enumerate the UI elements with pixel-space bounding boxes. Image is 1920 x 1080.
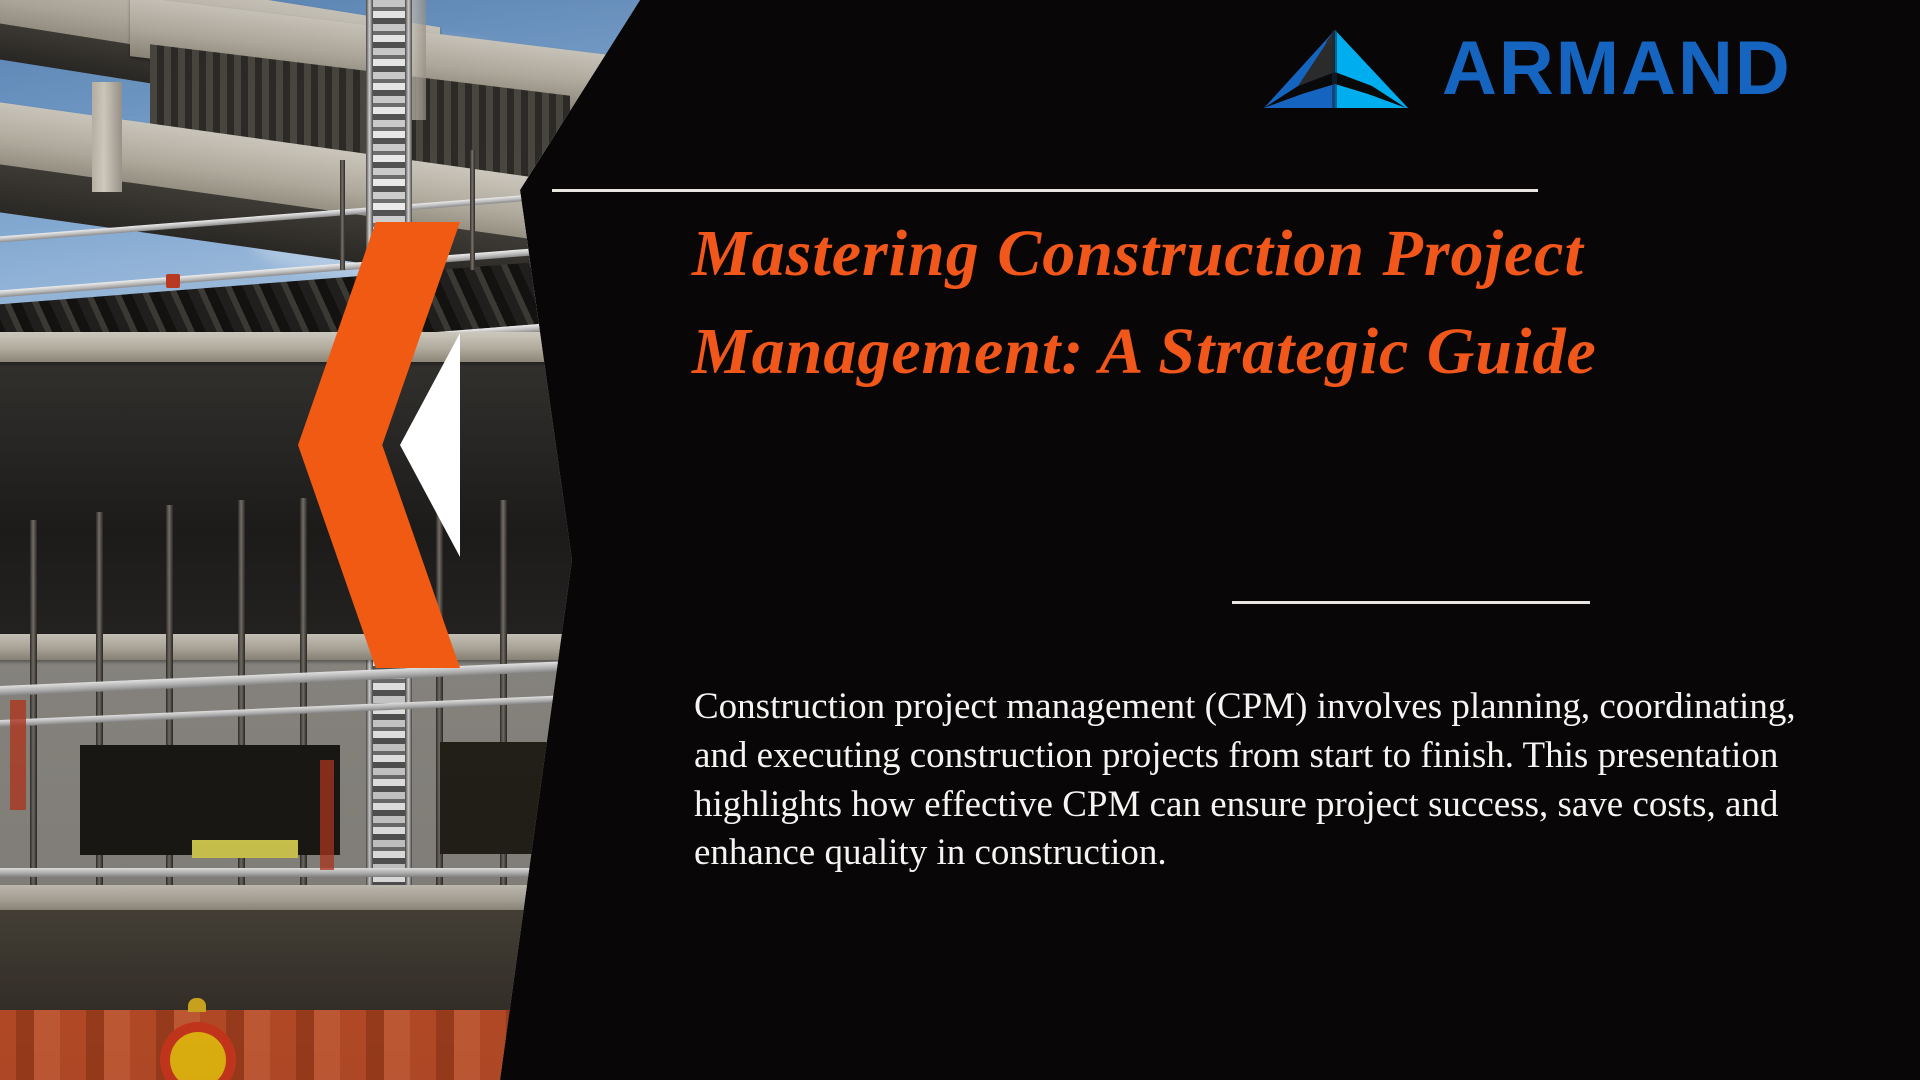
presentation-slide: ARMAND Mastering Construction Project Ma…: [0, 0, 1920, 1080]
photo-image: [0, 0, 640, 1080]
scaffold-upright: [580, 140, 585, 270]
brand-logo: ARMAND: [1262, 28, 1792, 110]
page-title: Mastering Construction Project Managemen…: [692, 205, 1652, 400]
divider-middle: [1232, 601, 1590, 604]
armand-triangle-mark-icon: [1262, 28, 1408, 110]
brand-wordmark: ARMAND: [1442, 31, 1792, 107]
construction-photo: [0, 0, 640, 1080]
body-paragraph: Construction project management (CPM) in…: [694, 683, 1834, 878]
photo-overlay: [0, 0, 640, 1080]
divider-top: [552, 189, 1538, 192]
